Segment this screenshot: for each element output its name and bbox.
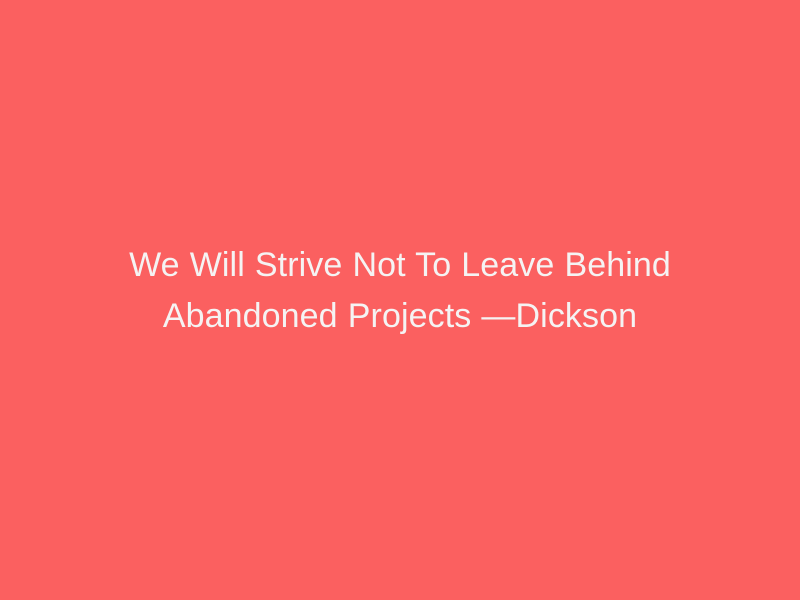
headline-card: We Will Strive Not To Leave Behind Aband… [0, 0, 800, 600]
headline-block: We Will Strive Not To Leave Behind Aband… [50, 240, 750, 342]
page-title: We Will Strive Not To Leave Behind Aband… [58, 240, 742, 342]
